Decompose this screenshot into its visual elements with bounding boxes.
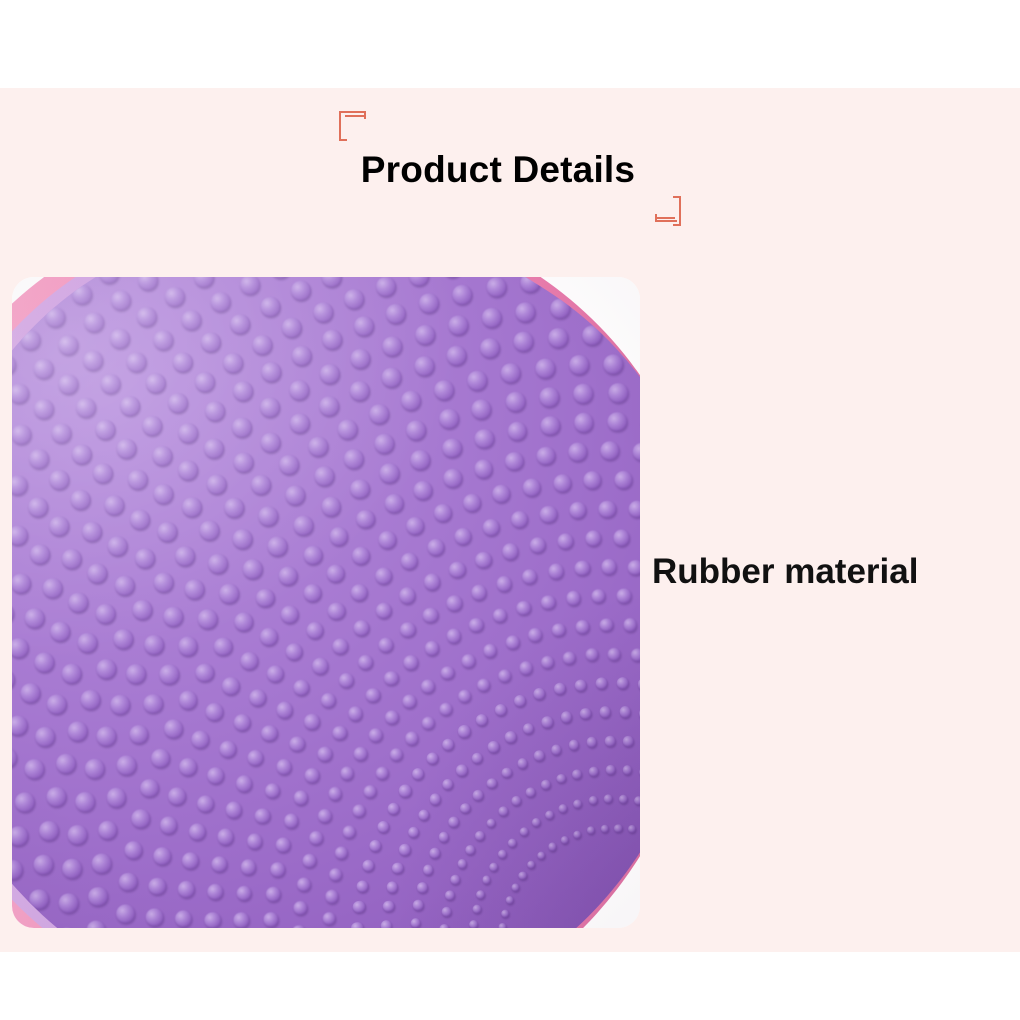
massage-nub (12, 893, 21, 915)
massage-nub (556, 773, 567, 784)
massage-nub (405, 516, 425, 536)
massage-nub (632, 441, 640, 462)
product-photo (12, 277, 640, 928)
massage-nub (427, 538, 446, 557)
massage-nub (204, 911, 222, 928)
board-purple-surface (12, 277, 640, 928)
massage-nub (494, 703, 507, 716)
massage-nub (527, 860, 536, 869)
massage-nub (411, 768, 424, 781)
massage-nub (276, 758, 293, 775)
massage-nub (96, 725, 118, 747)
massage-nub (513, 695, 526, 708)
massage-nub (321, 496, 342, 517)
massage-nub (67, 591, 89, 613)
massage-nub (263, 912, 279, 928)
bottom-right-corner-bracket-icon (655, 196, 681, 222)
massage-nub (260, 431, 282, 453)
massage-nub (129, 509, 151, 531)
massage-nub (522, 478, 542, 498)
massage-nub (429, 848, 441, 860)
massage-nub (438, 408, 460, 430)
product-details-banner: Product Details Rubber material (0, 0, 1020, 1020)
massage-nub (219, 740, 238, 759)
massage-nub (528, 628, 543, 643)
massage-nub (12, 354, 17, 376)
massage-nub (195, 663, 216, 684)
massage-nub (317, 746, 333, 762)
massage-nub (471, 752, 484, 765)
massage-nub (623, 618, 638, 633)
massage-nub (145, 907, 165, 927)
massage-nub (399, 844, 412, 857)
massage-nub (420, 679, 435, 694)
massage-nub (188, 822, 207, 841)
massage-nub (353, 900, 366, 913)
massage-nub (12, 825, 29, 847)
massage-nub (247, 749, 265, 767)
massage-nub (600, 824, 609, 833)
massage-nub (291, 345, 313, 367)
massage-nub (583, 295, 605, 317)
massage-nub (23, 758, 45, 780)
massage-nub (152, 484, 174, 506)
massage-nub (405, 731, 419, 745)
massage-nub (181, 851, 200, 870)
massage-nub (259, 627, 279, 647)
massage-nub (198, 520, 220, 542)
massage-nub (303, 545, 324, 566)
massage-nub (475, 831, 486, 842)
massage-nub (302, 584, 322, 604)
massage-nub (61, 858, 83, 880)
massage-nub (126, 469, 148, 491)
massage-nub (573, 830, 582, 839)
massage-nub (550, 744, 562, 756)
massage-nub (598, 500, 617, 519)
massage-nub (203, 437, 225, 459)
massage-nub (338, 672, 355, 689)
massage-nub (400, 390, 422, 412)
massage-nub (193, 277, 215, 289)
massage-nub (628, 500, 640, 519)
massage-nub (12, 475, 29, 497)
massage-nub (28, 448, 50, 470)
massage-nub (569, 501, 588, 520)
massage-nub (506, 421, 527, 442)
massage-nub (619, 794, 629, 804)
massage-nub (531, 818, 541, 828)
massage-nub (311, 657, 329, 675)
massage-nub (361, 859, 374, 872)
massage-nub (322, 329, 344, 351)
massage-nub (327, 601, 346, 620)
massage-nub (541, 594, 557, 610)
massage-nub (206, 766, 225, 785)
massage-nub (240, 859, 257, 876)
massage-nub (616, 324, 638, 346)
massage-nub (581, 324, 603, 346)
massage-nub (92, 463, 114, 485)
massage-nub (595, 677, 608, 690)
massage-nub (511, 796, 522, 807)
massage-nub (534, 357, 556, 379)
massage-nub (213, 636, 234, 657)
massage-nub (551, 622, 566, 637)
massage-nub (549, 297, 571, 319)
massage-nub (113, 574, 135, 596)
massage-nub (12, 277, 13, 298)
page-title: Product Details (0, 148, 1020, 192)
massage-nub (168, 786, 188, 806)
massage-nub (429, 793, 442, 806)
massage-nub (410, 917, 422, 928)
massage-nub (392, 862, 405, 875)
massage-nub (152, 571, 174, 593)
massage-nub (152, 846, 172, 866)
massage-nub (221, 676, 241, 696)
massage-nub (501, 909, 510, 918)
massage-nub (35, 277, 57, 298)
massage-nub (498, 849, 508, 859)
massage-nub (343, 825, 357, 839)
massage-nub (380, 920, 393, 928)
massage-nub (328, 526, 349, 547)
massage-nub (233, 714, 252, 733)
massage-nub (386, 881, 399, 894)
massage-nub (57, 334, 79, 356)
massage-nub (293, 515, 314, 536)
massage-nub (446, 345, 468, 367)
massage-nub (174, 545, 196, 567)
massage-nub (143, 634, 165, 656)
massage-nub (447, 315, 469, 337)
massage-nub (353, 746, 368, 761)
massage-nub (103, 494, 125, 516)
massage-nub (634, 796, 640, 806)
massage-nub (163, 718, 184, 739)
massage-nub (472, 789, 484, 801)
massage-nub (97, 820, 118, 841)
massage-nub (522, 723, 535, 736)
massage-nub (417, 882, 429, 894)
massage-nub (250, 474, 272, 496)
massage-nub (508, 838, 518, 848)
massage-nub (505, 896, 514, 905)
massage-nub (454, 527, 473, 546)
massage-nub (66, 824, 88, 846)
massage-nub (337, 418, 359, 440)
massage-nub (601, 558, 618, 575)
massage-nub (383, 670, 399, 686)
massage-nub (368, 839, 381, 852)
massage-nub (251, 334, 273, 356)
massage-nub (38, 820, 60, 842)
massage-nub (229, 313, 251, 335)
massage-nub (356, 880, 369, 893)
massage-nub (377, 820, 390, 833)
massage-nub (109, 327, 131, 349)
massage-nub (440, 665, 455, 680)
massage-nub (553, 682, 566, 695)
massage-nub (568, 442, 589, 463)
massage-nub (422, 864, 434, 876)
massage-nub (504, 451, 525, 472)
massage-nub (462, 493, 482, 513)
massage-nub (292, 924, 307, 928)
massage-nub (12, 382, 31, 404)
massage-nub (443, 468, 464, 489)
massage-nub (240, 277, 262, 295)
massage-nub (482, 518, 501, 537)
massage-nub (232, 451, 254, 473)
massage-nub (589, 766, 600, 777)
massage-nub (616, 676, 629, 689)
massage-nub (85, 920, 106, 928)
massage-nub (399, 621, 416, 638)
massage-nub (307, 435, 329, 457)
massage-nub (536, 446, 557, 467)
massage-nub (49, 621, 71, 643)
massage-nub (352, 804, 366, 818)
massage-nub (540, 415, 561, 436)
massage-nub (540, 779, 551, 790)
massage-nub (293, 679, 311, 697)
massage-nub (29, 888, 51, 910)
massage-nub (408, 277, 430, 287)
massage-nub (75, 397, 97, 419)
massage-nub (548, 842, 557, 851)
massage-nub (573, 383, 595, 405)
massage-nub (568, 354, 590, 376)
massage-nub (469, 920, 479, 928)
massage-nub (81, 521, 103, 543)
top-left-corner-bracket-icon (339, 111, 365, 137)
bracket-horizontal-inner-line (655, 217, 675, 219)
massage-nub (281, 317, 303, 339)
massage-nub (470, 584, 487, 601)
massage-nub (153, 330, 175, 352)
massage-nub (304, 713, 321, 730)
massage-nub (368, 403, 390, 425)
massage-nub (246, 833, 263, 850)
massage-nub (45, 306, 67, 328)
massage-nub (586, 736, 598, 748)
massage-nub (446, 595, 463, 612)
massage-nub (446, 628, 462, 644)
massage-nub (174, 910, 193, 928)
massage-nub (573, 799, 583, 809)
massage-nub (363, 784, 377, 798)
massage-nub (20, 330, 42, 352)
massage-nub (259, 296, 281, 318)
massage-nub (400, 552, 419, 571)
massage-nub (492, 484, 512, 504)
massage-nub (143, 693, 164, 714)
massage-nub (573, 412, 594, 433)
massage-nub (479, 337, 501, 359)
material-caption: Rubber material (652, 550, 918, 594)
massage-nub (518, 871, 527, 880)
massage-nub (12, 424, 32, 446)
massage-nub (276, 837, 292, 853)
massage-nub (560, 835, 569, 844)
massage-nub (559, 804, 569, 814)
massage-nub (456, 764, 469, 777)
massage-nub (486, 777, 498, 789)
page-title-text: Product Details (361, 148, 635, 192)
massage-nub (206, 473, 228, 495)
massage-nub (86, 563, 108, 585)
massage-nub (33, 398, 55, 420)
massage-nub (472, 905, 482, 915)
massage-nub (638, 708, 640, 721)
massage-nub (80, 689, 102, 711)
massage-nub (71, 444, 93, 466)
massage-nub (375, 566, 394, 585)
massage-nub (410, 449, 431, 470)
massage-nub (257, 506, 279, 528)
massage-nub (541, 716, 554, 729)
massage-nub (375, 602, 393, 620)
massage-nub (297, 877, 312, 892)
massage-nub (84, 758, 106, 780)
massage-nub (55, 753, 77, 775)
massage-nub (574, 560, 591, 577)
massage-nub (585, 648, 599, 662)
massage-nub (67, 720, 89, 742)
massage-nub (224, 496, 246, 518)
massage-nub (465, 844, 476, 855)
massage-nub (329, 867, 343, 881)
massage-nub (239, 651, 259, 671)
massage-nub (125, 663, 147, 685)
massage-nub (12, 927, 20, 928)
massage-nub (407, 826, 420, 839)
massage-nub (283, 813, 299, 829)
massage-nub (181, 310, 203, 332)
massage-nub (12, 859, 24, 881)
massage-nub (475, 551, 493, 569)
massage-nub (389, 748, 403, 762)
massage-nub (501, 767, 513, 779)
massage-nub (575, 619, 590, 634)
massage-nub (42, 577, 64, 599)
massage-nub (414, 324, 436, 346)
massage-nub (12, 602, 15, 624)
massage-nub (639, 767, 640, 778)
massage-nub (562, 650, 576, 664)
massage-nub (276, 701, 294, 719)
massage-nub (439, 923, 450, 928)
massage-nub (486, 818, 497, 829)
massage-nub (12, 747, 18, 769)
massage-nub (269, 862, 285, 878)
massage-nub (374, 433, 396, 455)
massage-nub (46, 693, 68, 715)
massage-nub (343, 288, 365, 310)
massage-nub (421, 716, 435, 730)
massage-nub (529, 536, 547, 554)
massage-nub (134, 547, 156, 569)
massage-nub (340, 766, 355, 781)
massage-nub (481, 307, 503, 329)
massage-nub (627, 559, 640, 576)
massage-nub (91, 853, 112, 874)
massage-nub (356, 509, 377, 530)
massage-nub (123, 840, 144, 861)
massage-nub (348, 706, 364, 722)
massage-nub (585, 530, 603, 548)
massage-nub (313, 466, 335, 488)
massage-nub (194, 371, 216, 393)
massage-nub (475, 713, 488, 726)
massage-nub (320, 692, 337, 709)
massage-nub (255, 588, 276, 609)
massage-nub (32, 358, 54, 380)
massage-nub (207, 553, 229, 575)
massage-nub (110, 694, 132, 716)
massage-nub (504, 391, 526, 413)
massage-nub (365, 687, 381, 703)
massage-nub (60, 662, 82, 684)
massage-nub (402, 694, 417, 709)
massage-nub (231, 416, 253, 438)
massage-nub (442, 778, 455, 791)
massage-nub (554, 277, 576, 290)
massage-nub (206, 883, 224, 901)
massage-nub (357, 654, 374, 671)
massage-nub (305, 621, 324, 640)
massage-nub (604, 735, 616, 747)
massage-nub (533, 688, 546, 701)
massage-nub (289, 412, 311, 434)
massage-nub (293, 900, 308, 915)
massage-nub (607, 647, 621, 661)
massage-nub (350, 583, 369, 602)
massage-nub (433, 503, 453, 523)
massage-nub (151, 445, 173, 467)
massage-nub (423, 573, 441, 591)
massage-nub (304, 767, 320, 783)
massage-nub (539, 505, 558, 524)
massage-nub (210, 291, 232, 313)
massage-nub (326, 564, 346, 584)
massage-nub (382, 900, 395, 913)
massage-nub (413, 355, 435, 377)
massage-nub (136, 306, 158, 328)
massage-nub (70, 489, 92, 511)
massage-nub (242, 559, 263, 580)
massage-nub (515, 301, 537, 323)
massage-nub (49, 516, 71, 538)
massage-nub (235, 775, 253, 793)
massage-nub (381, 367, 403, 389)
massage-nub (248, 689, 267, 708)
massage-nub (205, 702, 225, 722)
massage-nub (332, 725, 348, 741)
massage-nub (321, 277, 343, 288)
massage-nub (537, 851, 546, 860)
massage-nub (385, 303, 407, 325)
massage-nub (513, 331, 535, 353)
massage-nub (141, 415, 163, 437)
massage-nub (181, 496, 203, 518)
massage-nub (319, 363, 341, 385)
massage-nub (498, 923, 507, 928)
massage-nub (351, 546, 371, 566)
massage-nub (498, 806, 509, 817)
